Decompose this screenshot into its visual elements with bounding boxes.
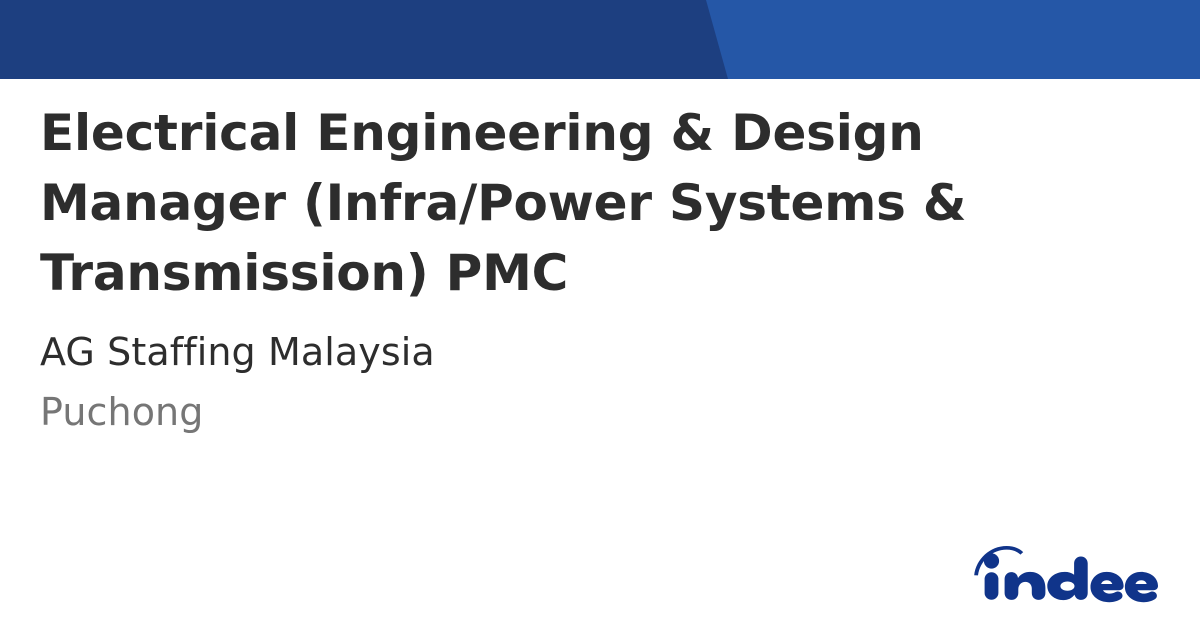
company-name: AG Staffing Malaysia — [40, 308, 1160, 378]
indeed-letter-e-second — [1125, 572, 1158, 602]
indeed-letter-d-first — [1047, 557, 1087, 601]
banner-dark-blue-shape — [0, 0, 728, 79]
indeed-logo[interactable]: indeed — [968, 538, 1168, 606]
job-location: Puchong — [40, 378, 1160, 438]
indeed-i-dot-icon — [984, 553, 999, 568]
indeed-letter-e-first — [1091, 572, 1124, 602]
job-card-content: Electrical Engineering & Design Manager … — [40, 98, 1160, 438]
banner-light-blue-shape — [700, 0, 1200, 79]
indeed-letter-n — [1005, 572, 1046, 600]
top-banner — [0, 0, 1200, 79]
indeed-letter-i — [985, 572, 999, 600]
job-title: Electrical Engineering & Design Manager … — [40, 98, 1130, 308]
